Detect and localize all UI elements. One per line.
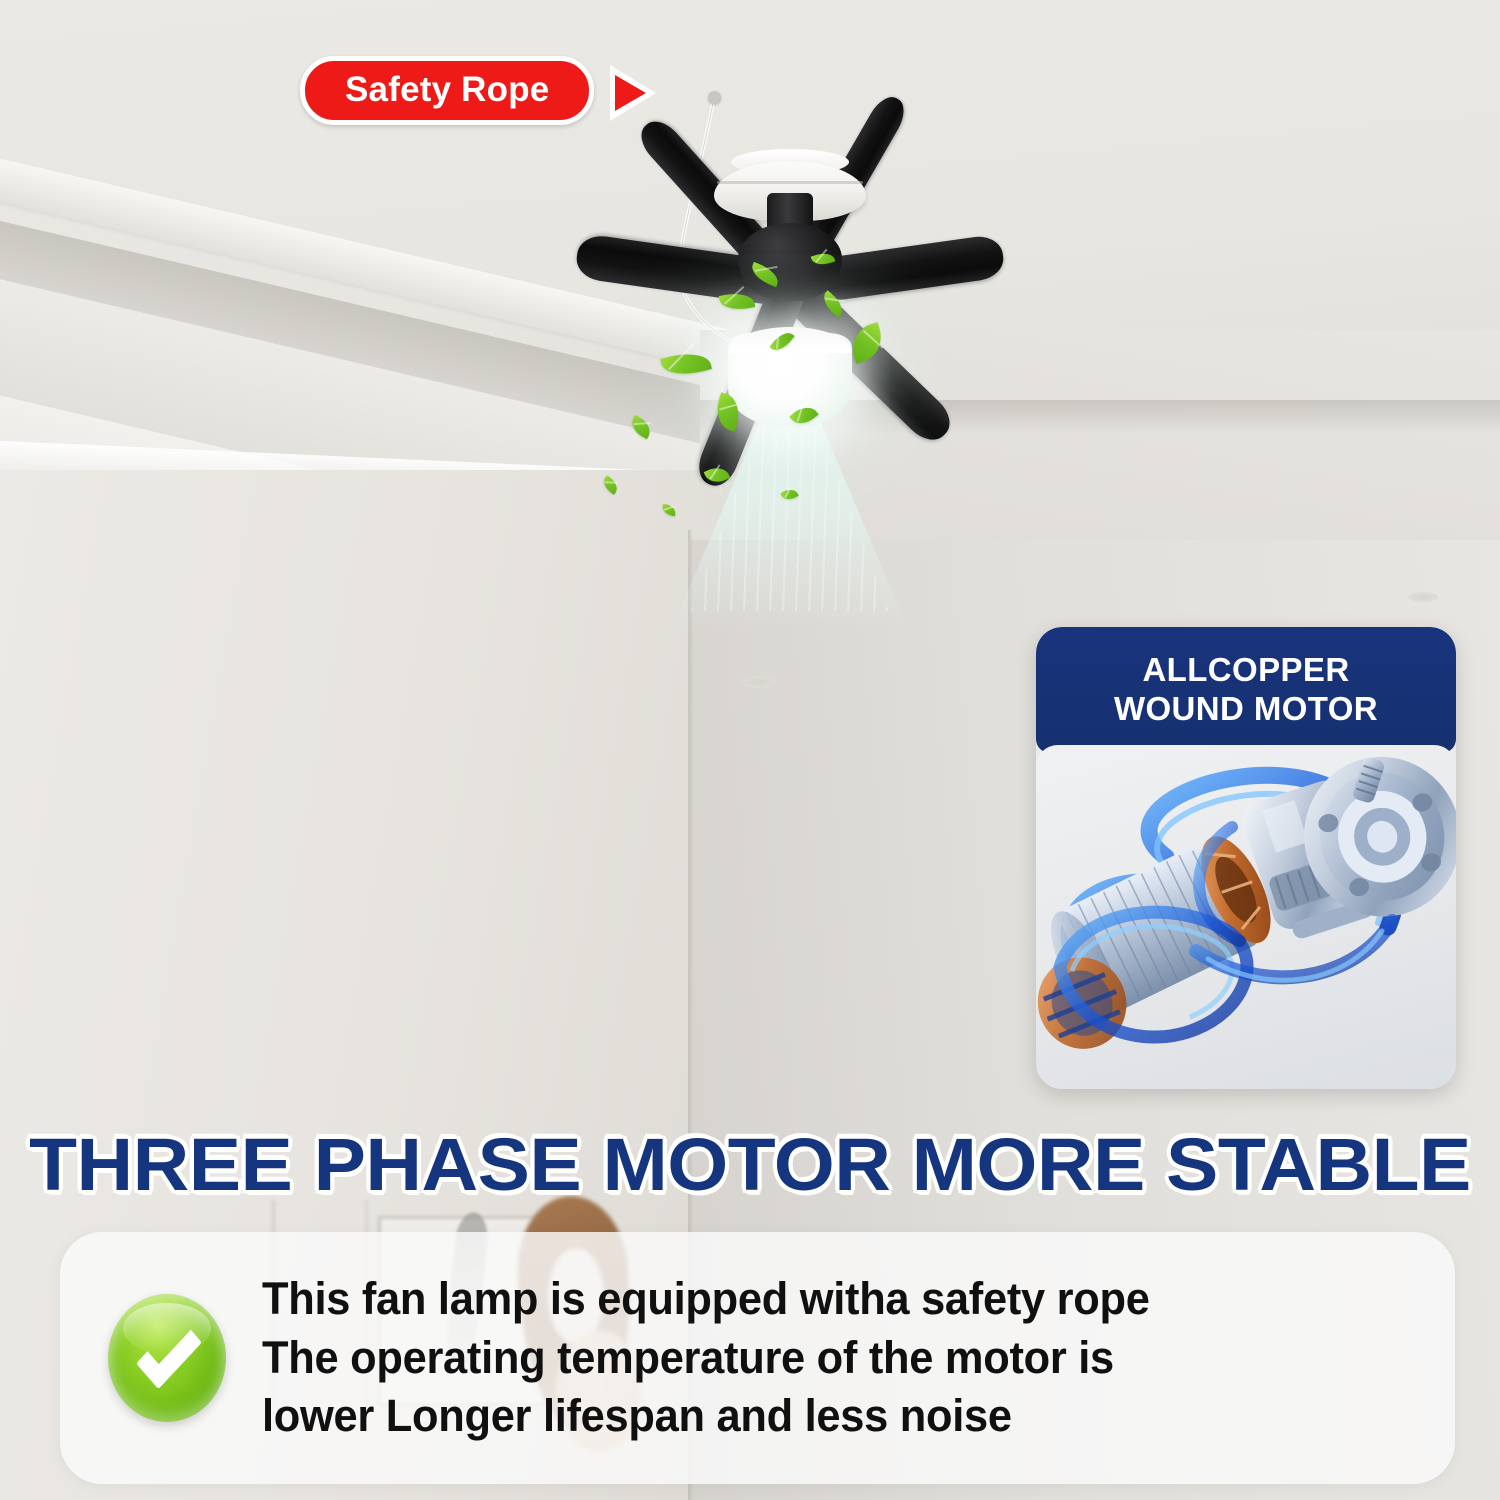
page-title: THREE PHASE MOTOR MORE STABLE [0,1122,1500,1207]
motor-title-line-2: WOUND MOTOR [1114,690,1378,729]
feature-bullet-text: This fan lamp is equipped witha safety r… [262,1270,1150,1446]
fan-canopy-seam [717,181,863,184]
recessed-ceiling-light-icon [740,676,776,688]
allcopper-motor-card[interactable]: ALLCOPPER WOUND MOTOR [1036,627,1456,1089]
triangle-fill [615,75,646,111]
safety-rope-label: Safety Rope [300,56,594,125]
recessed-ceiling-light-2-icon [1408,592,1438,602]
ceiling-fan-icon [520,85,1060,485]
bullet-line: The operating temperature of the motor i… [262,1329,1150,1388]
ceiling-rope-anchor-icon [708,91,721,104]
bullet-line: This fan lamp is equipped witha safety r… [262,1270,1150,1329]
check-mark-glyph [136,1317,202,1390]
play-triangle-icon [610,65,664,117]
safety-rope-callout[interactable]: Safety Rope [300,56,664,125]
bullet-line: lower Longer lifespan and less noise [262,1387,1150,1446]
exploded-motor-icon [1036,745,1456,1089]
feature-bullet-panel: This fan lamp is equipped witha safety r… [60,1232,1455,1484]
motor-title-line-1: ALLCOPPER [1142,651,1349,690]
green-check-badge-icon [108,1294,226,1422]
motor-card-header: ALLCOPPER WOUND MOTOR [1036,627,1456,753]
motor-card-image [1036,745,1456,1089]
